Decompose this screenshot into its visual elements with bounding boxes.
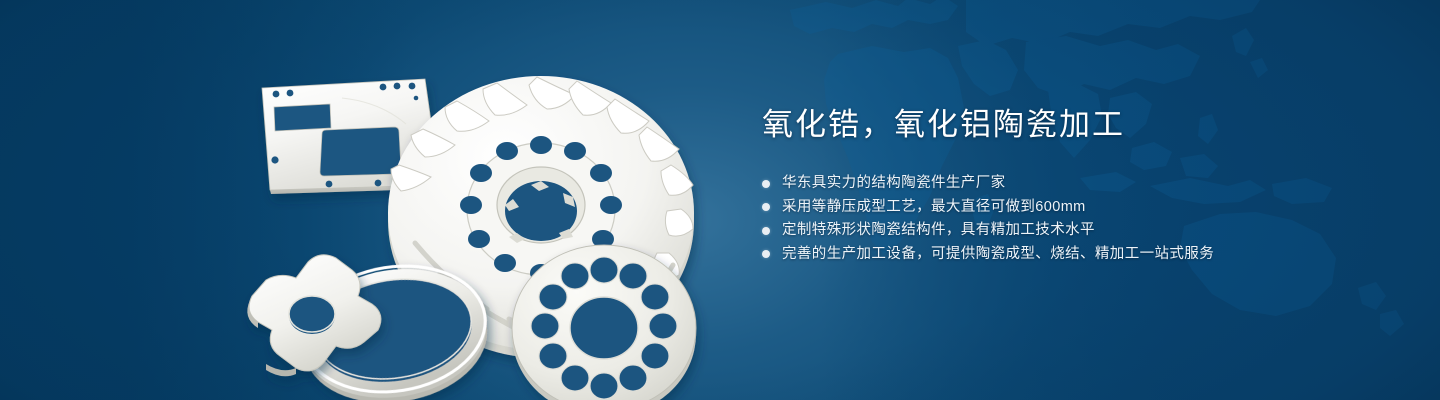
bullet-dot-icon xyxy=(762,227,770,235)
list-item: 华东具实力的结构陶瓷件生产厂家 xyxy=(762,172,1382,196)
text-block: 氧化锆，氧化铝陶瓷加工 华东具实力的结构陶瓷件生产厂家 采用等静压成型工艺，最大… xyxy=(762,108,1382,266)
list-item: 定制特殊形状陶瓷结构件，具有精加工技术水平 xyxy=(762,219,1382,243)
list-item: 完善的生产加工设备，可提供陶瓷成型、烧结、精加工一站式服务 xyxy=(762,243,1382,267)
list-item-label: 完善的生产加工设备，可提供陶瓷成型、烧结、精加工一站式服务 xyxy=(782,243,1214,267)
page-title: 氧化锆，氧化铝陶瓷加工 xyxy=(762,108,1382,142)
hero-banner: 氧化锆，氧化铝陶瓷加工 华东具实力的结构陶瓷件生产厂家 采用等静压成型工艺，最大… xyxy=(0,0,1440,400)
feature-list: 华东具实力的结构陶瓷件生产厂家 采用等静压成型工艺，最大直径可做到600mm 定… xyxy=(762,172,1382,266)
bullet-dot-icon xyxy=(762,180,770,188)
product-photo xyxy=(230,38,720,393)
bullet-dot-icon xyxy=(762,250,770,258)
perforated-ceramic-disc xyxy=(512,245,696,400)
bullet-dot-icon xyxy=(762,203,770,211)
list-item-label: 采用等静压成型工艺，最大直径可做到600mm xyxy=(782,196,1086,220)
list-item: 采用等静压成型工艺，最大直径可做到600mm xyxy=(762,196,1382,220)
list-item-label: 华东具实力的结构陶瓷件生产厂家 xyxy=(782,172,1006,196)
list-item-label: 定制特殊形状陶瓷结构件，具有精加工技术水平 xyxy=(782,219,1095,243)
